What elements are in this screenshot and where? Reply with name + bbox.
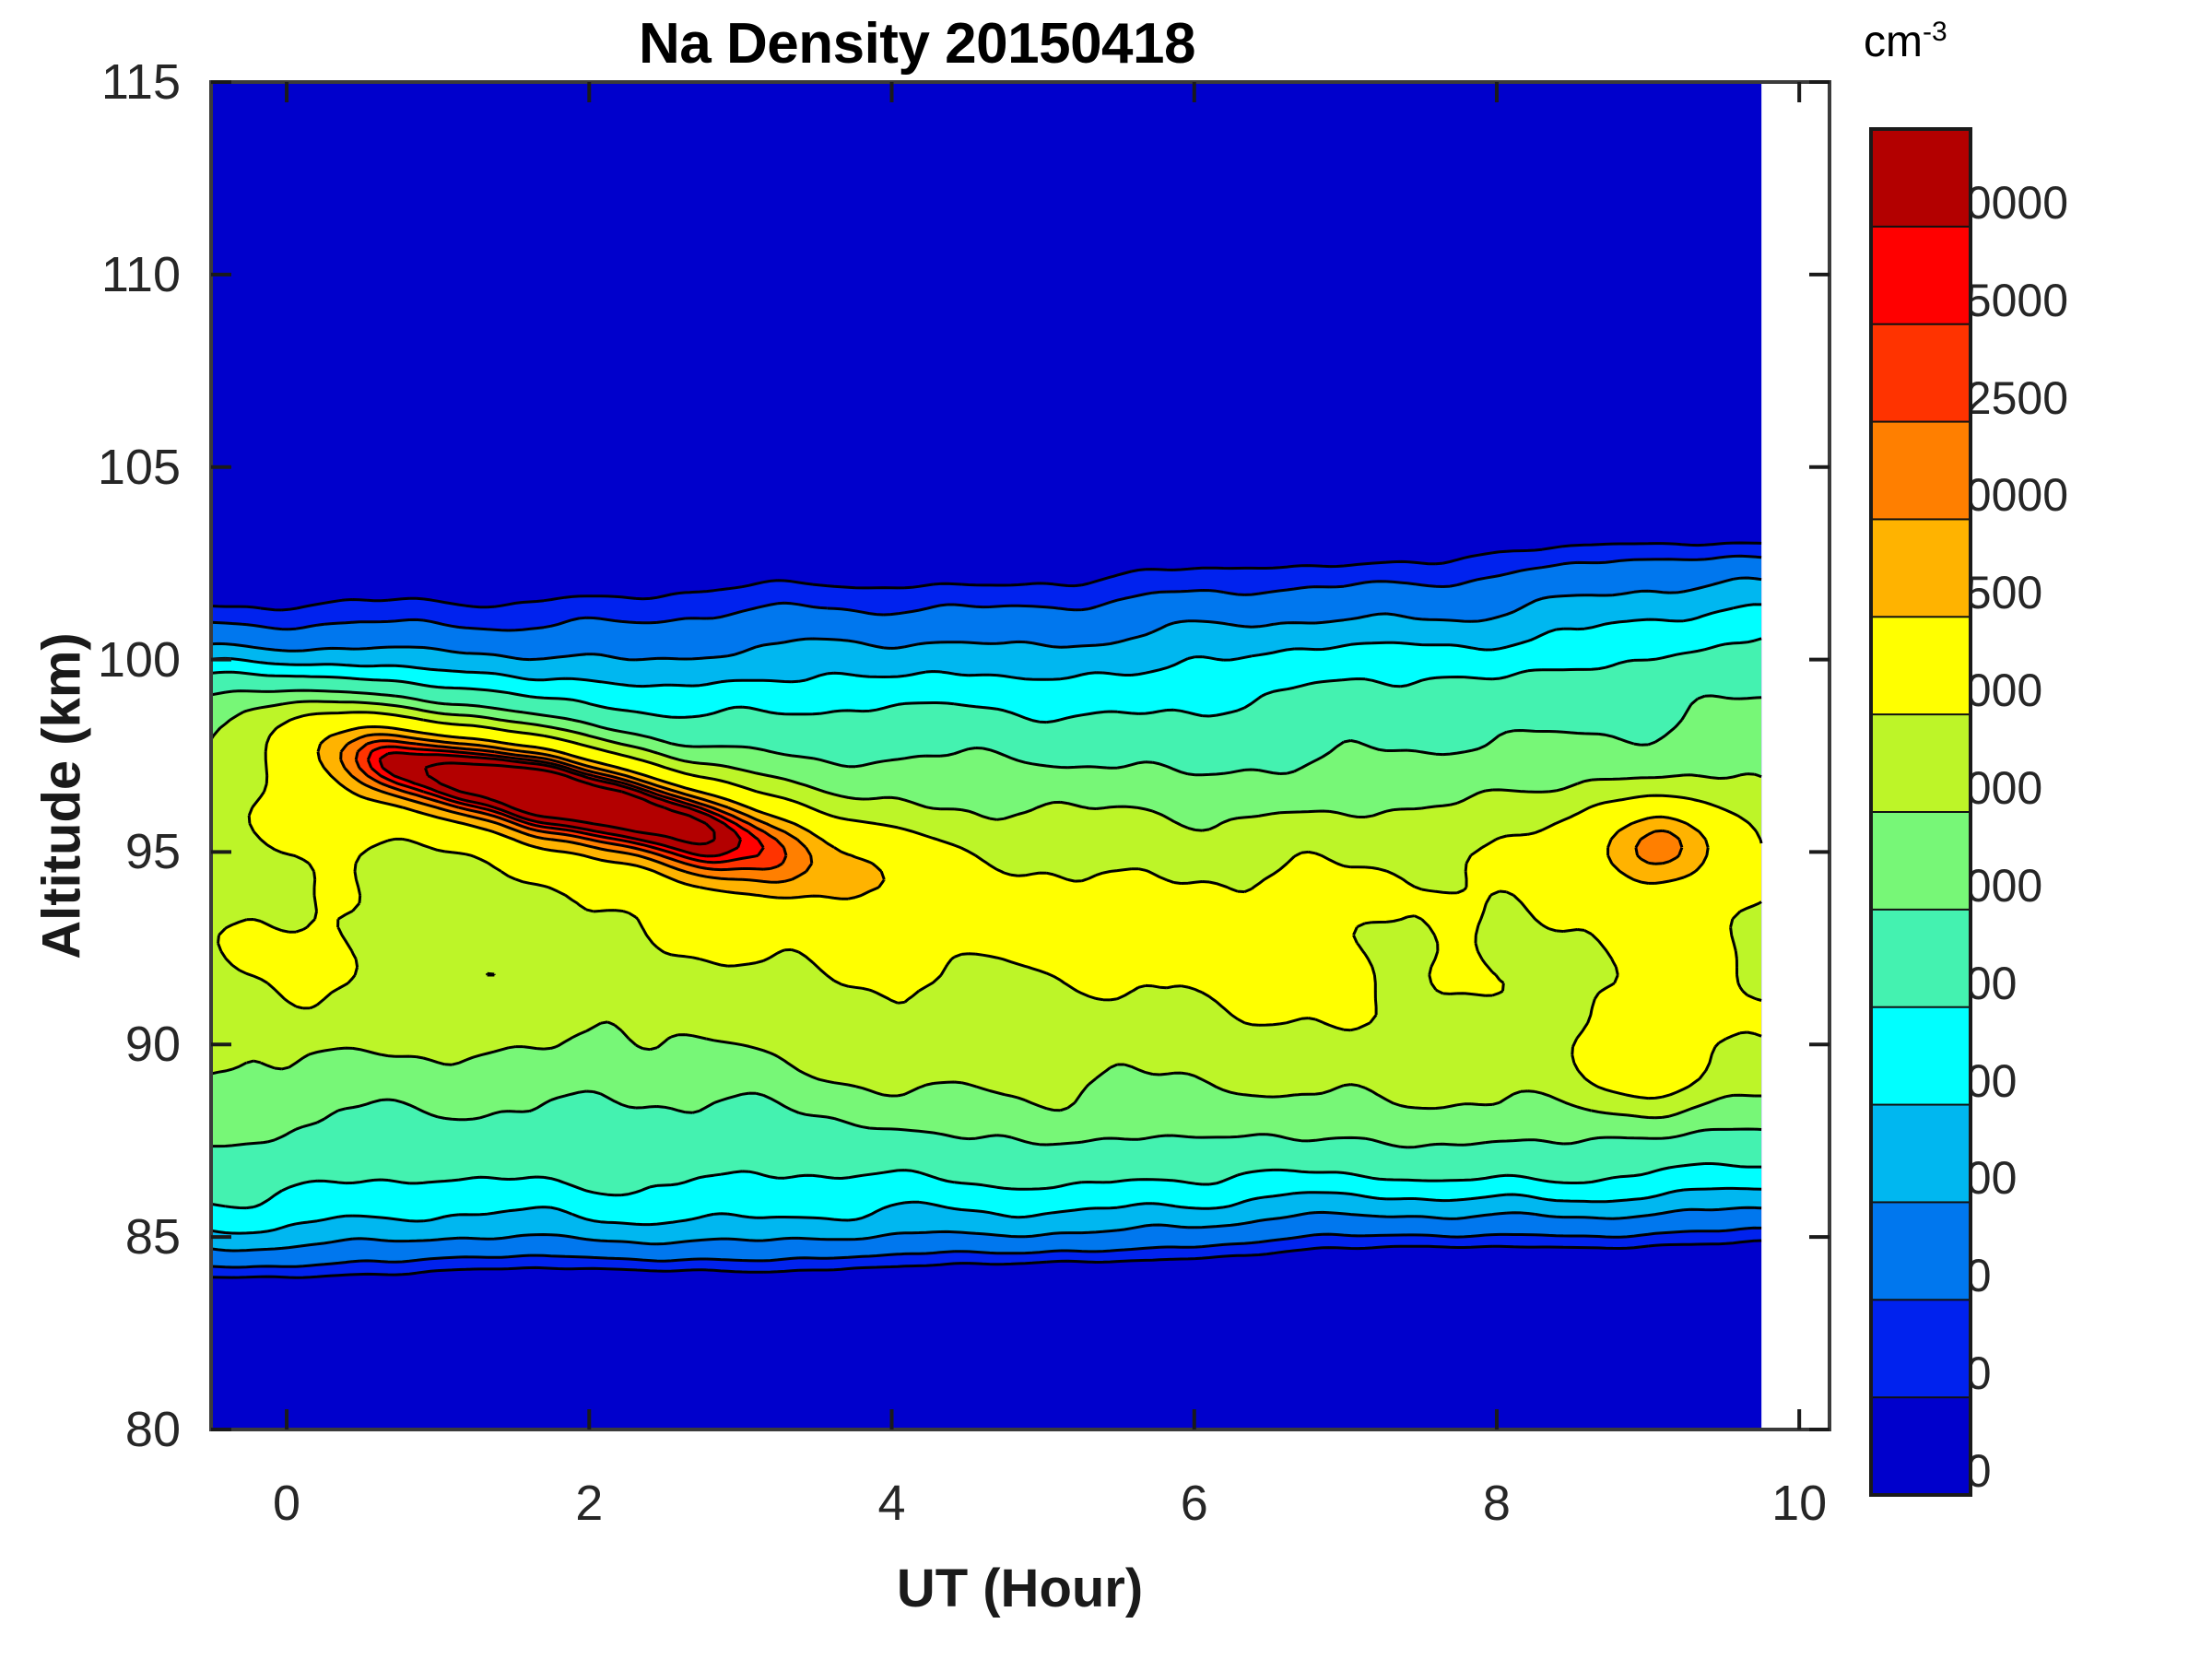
colorbar-swatch-1000 (1871, 812, 1971, 910)
colorbar-swatch-100 (1871, 1105, 1971, 1203)
colorbar-swatches (1871, 129, 1971, 1496)
colorbar-swatch-500 (1871, 910, 1971, 1007)
colorbar-swatch-200 (1871, 1007, 1971, 1105)
colorbar-swatch-20 (1871, 1300, 1971, 1397)
figure-canvas: Na Density 20150418 Altitude (km) UT (Ho… (0, 0, 2212, 1659)
colorbar-swatch-50 (1871, 1202, 1971, 1300)
colorbar-swatch-12500 (1871, 324, 1971, 422)
colorbar-swatch-20000 (1871, 129, 1971, 227)
colorbar-swatch-2000 (1871, 714, 1971, 812)
colorbar-swatch-5000 (1871, 617, 1971, 714)
colorbar-swatch-10 (1871, 1397, 1971, 1495)
colorbar-swatch-10000 (1871, 422, 1971, 520)
contour-plot (0, 0, 2212, 1659)
colorbar-swatch-7500 (1871, 519, 1971, 617)
colorbar-swatch-15000 (1871, 227, 1971, 324)
